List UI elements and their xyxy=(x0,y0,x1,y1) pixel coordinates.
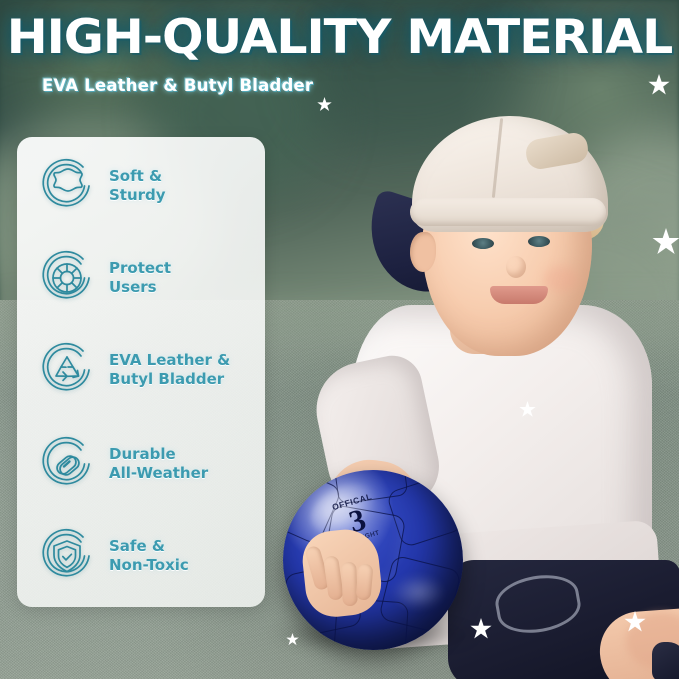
feature-item-safe-nontoxic: Safe &Non-Toxic xyxy=(37,517,255,595)
feature-item-eva-leather: EVA Leather &Butyl Bladder xyxy=(37,331,255,409)
feature-item-soft-sturdy: Soft &Sturdy xyxy=(37,147,255,225)
shield-check-icon xyxy=(37,525,99,587)
feature-label: Soft &Sturdy xyxy=(109,167,166,205)
life-ring-icon xyxy=(37,247,99,309)
headline-subtitle: EVA Leather & Butyl Bladder xyxy=(42,76,462,95)
feature-card: Soft &Sturdy ProtectUsers xyxy=(17,137,265,607)
feature-label: EVA Leather &Butyl Bladder xyxy=(109,351,230,389)
product-marketing-image: OFFICAL 3 & WEIGHT HIGH-QUALITY MATERIAL… xyxy=(0,0,679,679)
finger xyxy=(341,562,358,606)
feature-label: Safe &Non-Toxic xyxy=(109,537,189,575)
feature-label: DurableAll-Weather xyxy=(109,445,208,483)
recycle-arrows-icon xyxy=(37,339,99,401)
hand-over-ball xyxy=(300,60,679,679)
leather-hide-icon xyxy=(37,155,99,217)
feature-item-durable: DurableAll-Weather xyxy=(37,425,255,503)
headline-title: HIGH-QUALITY MATERIAL xyxy=(0,14,679,62)
feature-item-protect-users: ProtectUsers xyxy=(37,239,255,317)
feature-label: ProtectUsers xyxy=(109,259,171,297)
chain-link-icon xyxy=(37,433,99,495)
